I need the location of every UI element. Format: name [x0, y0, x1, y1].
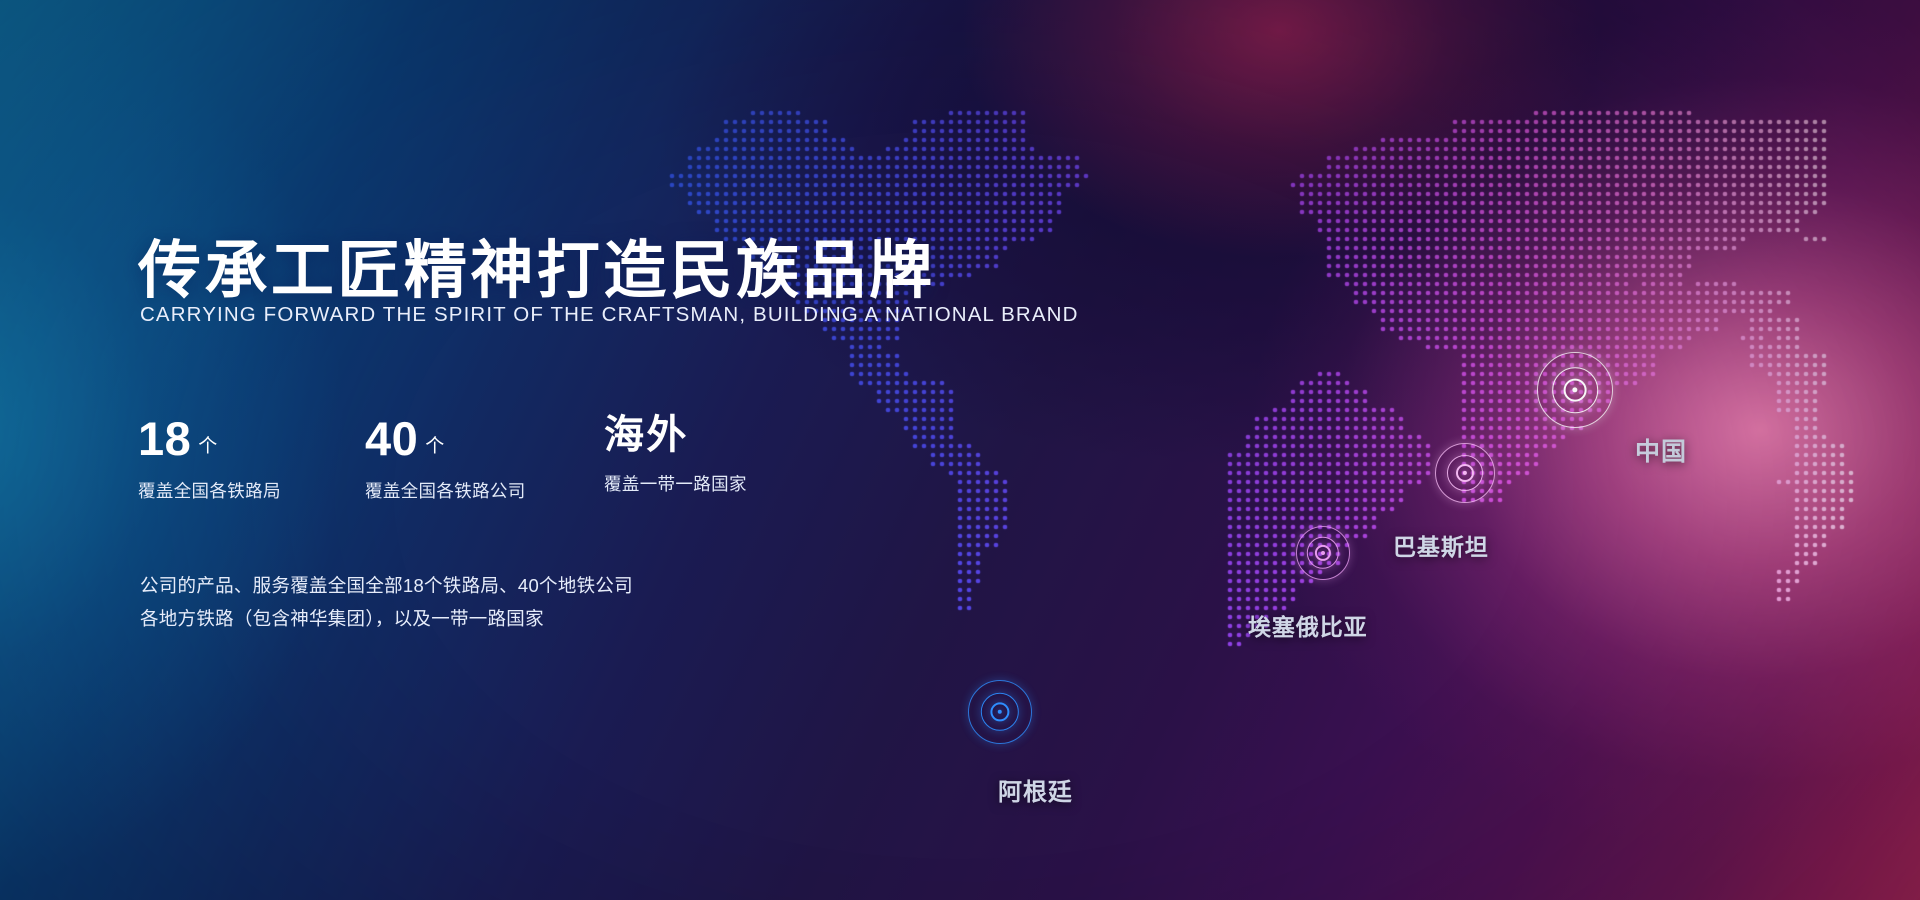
stat-unit: 个: [198, 431, 217, 458]
hero-banner: 中国巴基斯坦埃塞俄比亚阿根廷 传承工匠精神打造民族品牌 CARRYING FOR…: [0, 0, 1920, 900]
stat-description: 覆盖全国各铁路公司: [365, 478, 526, 503]
stat-description: 覆盖全国各铁路局: [138, 478, 281, 503]
hero-content: 传承工匠精神打造民族品牌 CARRYING FORWARD THE SPIRIT…: [138, 0, 958, 900]
stat-value: 18: [138, 415, 191, 462]
description-paragraph: 公司的产品、服务覆盖全国全部18个铁路局、40个地铁公司 各地方铁路（包含神华集…: [140, 570, 633, 636]
description-line-2: 各地方铁路（包含神华集团），以及一带一路国家: [140, 603, 633, 636]
stat-unit: 个: [425, 431, 444, 458]
stat-description: 覆盖一带一路国家: [604, 471, 747, 496]
page-subtitle: CARRYING FORWARD THE SPIRIT OF THE CRAFT…: [140, 303, 1079, 327]
description-line-1: 公司的产品、服务覆盖全国全部18个铁路局、40个地铁公司: [140, 570, 633, 603]
stat-value: 40: [365, 415, 418, 462]
stat-value: 海外: [604, 415, 689, 455]
stat-item-0: 18个覆盖全国各铁路局: [138, 415, 281, 503]
stat-item-2: 海外覆盖一带一路国家: [604, 415, 747, 496]
page-title: 传承工匠精神打造民族品牌: [138, 240, 936, 303]
stat-item-1: 40个覆盖全国各铁路公司: [365, 415, 526, 503]
